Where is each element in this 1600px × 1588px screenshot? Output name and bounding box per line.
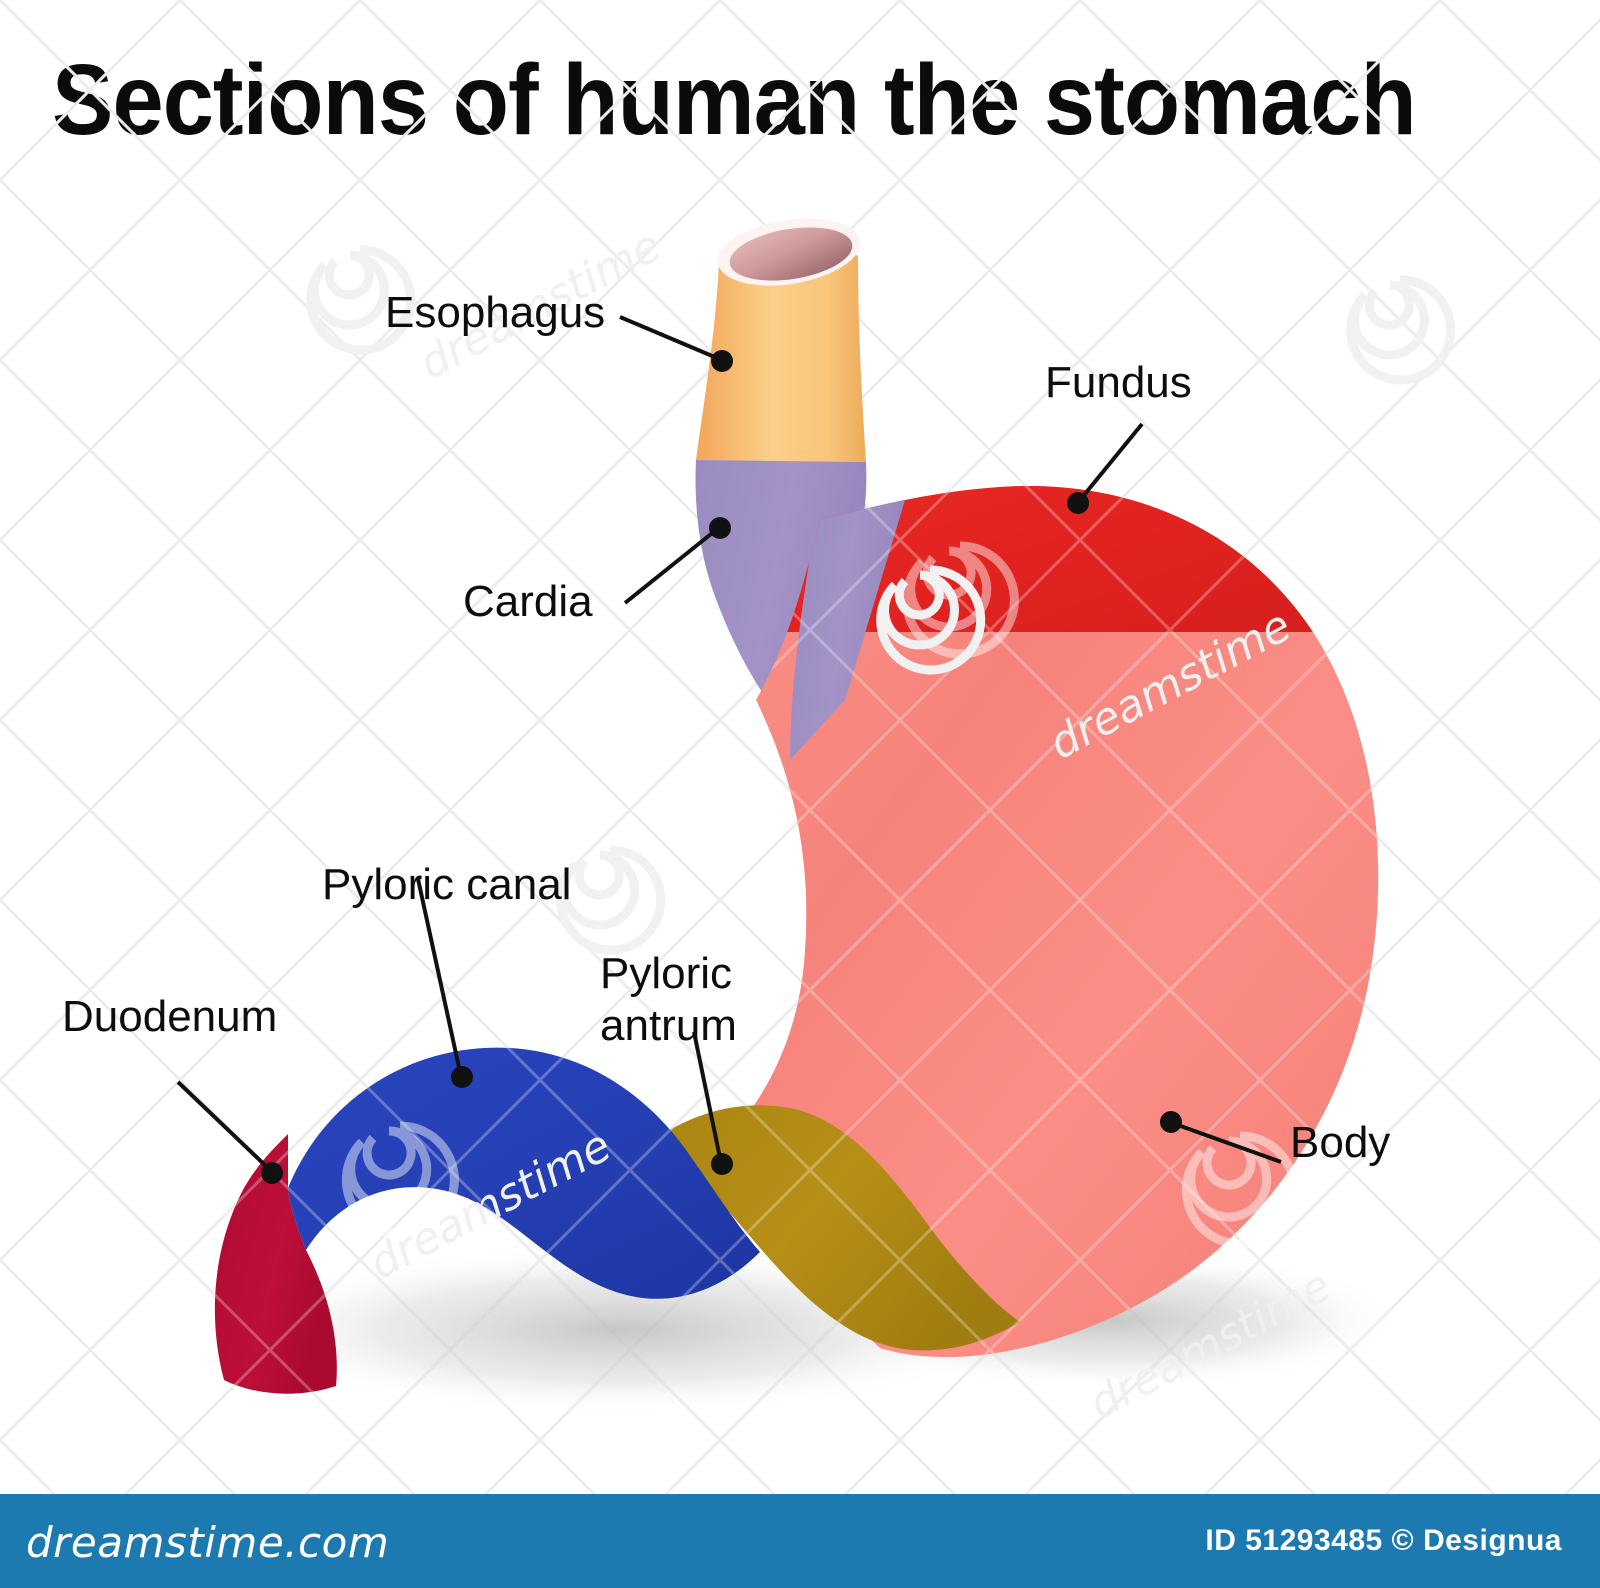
footer-bar: dreamstime.com ID 51293485 © Designua: [0, 1494, 1600, 1588]
illustration-page: Sections of human the stomach: [0, 0, 1600, 1588]
dot-pyloric-antrum: [711, 1153, 733, 1175]
leader-cardia: [625, 530, 716, 603]
region-esophagus: [696, 209, 866, 462]
label-duodenum: Duodenum: [62, 991, 277, 1043]
leader-duodenum: [178, 1082, 268, 1168]
label-cardia: Cardia: [463, 576, 593, 628]
dot-cardia: [709, 517, 731, 539]
dreamstime-logo: dreamstime.com: [26, 1518, 389, 1567]
dot-duodenum: [261, 1162, 283, 1184]
label-pyloric-antrum: Pyloric antrum: [600, 948, 770, 1052]
label-esophagus: Esophagus: [385, 287, 605, 339]
dot-body: [1160, 1111, 1182, 1133]
dot-fundus: [1067, 492, 1089, 514]
dot-pyloric-canal: [451, 1066, 473, 1088]
image-credit: ID 51293485 © Designua: [1205, 1524, 1562, 1558]
dot-esophagus: [711, 350, 733, 372]
stomach-diagram: dreamstime dreamstime dreamstime dreamst…: [0, 0, 1600, 1588]
leader-fundus: [1080, 424, 1142, 500]
label-body: Body: [1290, 1117, 1390, 1169]
label-pyloric-canal: Pyloric canal: [322, 859, 571, 911]
leader-esophagus: [620, 317, 717, 358]
label-fundus: Fundus: [1045, 357, 1192, 409]
